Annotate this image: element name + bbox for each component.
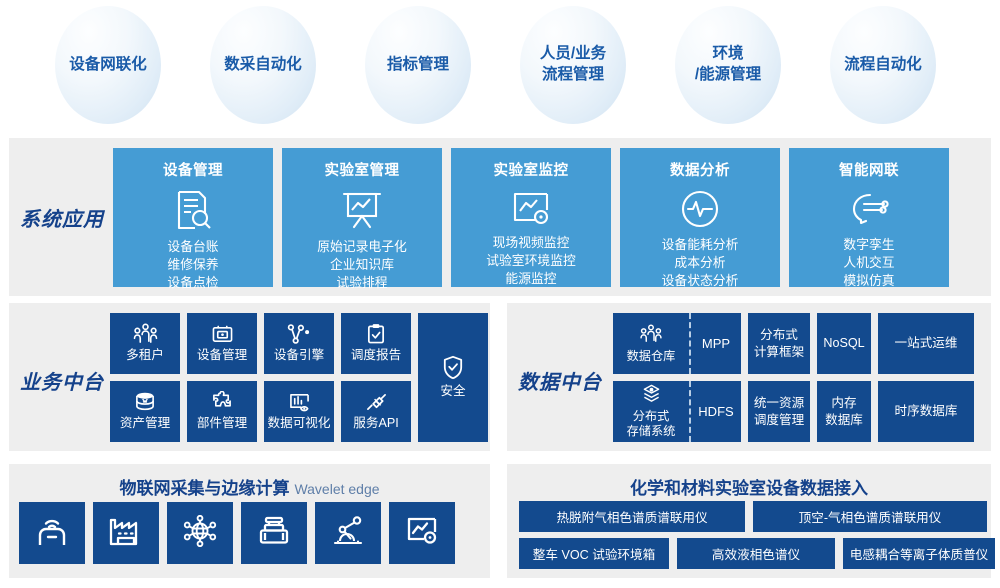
tile-label: 设备管理 [197,347,247,363]
system-application-row-label: 系统应用 [20,203,104,232]
presentation-chart-icon [341,189,383,231]
tile-column: 安全 [418,313,488,442]
app-card-intelligent-network[interactable]: 智能网联 数字孪生 人机交互 模拟仿真 [789,148,949,287]
lab-equipment-item[interactable]: 电感耦合等离子体质普仪 [843,538,995,569]
feature-line: 原始记录电子化 [317,238,407,256]
tile-label: 时序数据库 [895,403,958,419]
tile-column: 数据仓库 MPP 分布式 存储系 [613,313,741,442]
capability-ellipse-row: 设备网联化 数采自动化 指标管理 人员/业务 流程管理 环境 /能源管理 流程自… [0,0,1000,130]
capability-label-line2: /能源管理 [695,66,761,83]
app-card-features: 原始记录电子化 企业知识库 试验排程 [317,238,407,292]
tile-device-engine[interactable]: 设备引擎 [264,313,334,374]
architecture-diagram: 设备网联化 数采自动化 指标管理 人员/业务 流程管理 环境 /能源管理 流程自… [0,0,1000,588]
tile-in-memory-database[interactable]: 内存 数据库 [817,381,871,442]
pulse-circle-icon [680,189,720,229]
document-search-icon [173,189,213,231]
tile-dispatch-report[interactable]: 调度报告 [341,313,411,374]
feature-line: 设备点检 [167,274,218,292]
wifi-gateway-icon [35,515,69,552]
factory-icon [108,516,144,551]
lab-equipment-item[interactable]: 顶空-气相色谱质谱联用仪 [753,501,987,532]
tile-label-line1: 统一资源 [754,395,804,411]
feature-line: 能源监控 [486,270,576,288]
iot-edge-title: 物联网采集与边缘计算 [119,479,289,498]
distributed-storage-icon [641,384,662,407]
app-card-lab-management[interactable]: 实验室管理 原始记录电子化 企业知识库 试验排程 [282,148,442,287]
iot-box-sensor-device[interactable] [241,502,307,564]
sensor-device-icon [257,516,291,551]
feature-line: 企业知识库 [317,256,407,274]
data-platform-tiles: 数据仓库 MPP 分布式 存储系 [613,313,974,442]
feature-line: 维修保养 [167,256,218,274]
puzzle-piece-icon [211,391,233,412]
app-card-title: 实验室监控 [494,159,569,180]
app-card-features: 现场视频监控 试验室环境监控 能源监控 [486,234,576,288]
tile-label-line2: 计算框架 [754,344,804,360]
tile-security[interactable]: 安全 [418,313,488,442]
tile-label: 调度报告 [351,347,401,363]
lab-equipment-item[interactable]: 整车 VOC 试验环境箱 [519,538,669,569]
tile-label-line2: 数据库 [825,412,863,428]
capability-label: 设备网联化 [69,55,147,76]
app-card-title: 设备管理 [163,159,223,180]
app-card-title: 数据分析 [670,159,730,180]
tile-label-line1: 内存 [831,395,856,411]
tile-component-management[interactable]: 部件管理 [187,381,257,442]
tile-label-line1: 分布式 [760,327,798,343]
iot-box-monitor-chart[interactable] [389,502,455,564]
shield-check-icon [442,355,464,380]
iot-box-robot-arm[interactable] [315,502,381,564]
capability-ellipse[interactable]: 流程自动化 [830,6,936,124]
tile-column: 调度报告 服务API [341,313,411,442]
tile-label: 一站式运维 [895,335,958,351]
tile-label: NoSQL [823,335,864,351]
tile-distributed-storage-hdfs[interactable]: 分布式 存储系统 HDFS [613,381,741,442]
feature-line: 设备状态分析 [662,272,739,290]
app-card-data-analysis[interactable]: 数据分析 设备能耗分析 成本分析 设备状态分析 [620,148,780,287]
ai-chip-head-icon [848,189,890,229]
plug-connect-icon [365,392,388,412]
tile-label: 部件管理 [197,415,247,431]
iot-edge-subtitle: Wavelet edge [294,481,379,497]
tile-nosql[interactable]: NoSQL [817,313,871,374]
tile-data-visualization[interactable]: 数据可视化 [264,381,334,442]
capability-label: 流程自动化 [844,55,922,76]
feature-line: 设备台账 [167,238,218,256]
tile-asset-management[interactable]: 资产管理 [110,381,180,442]
capability-ellipse[interactable]: 人员/业务 流程管理 [520,6,626,124]
tile-label: 服务API [353,415,399,431]
tile-one-stop-ops[interactable]: 一站式运维 [878,313,974,374]
tile-device-management[interactable]: 设备管理 [187,313,257,374]
robot-arm-icon [331,516,365,551]
system-application-cards: 设备管理 设备台账 维修保养 设备点检 实验室管理 [113,148,949,287]
app-card-features: 设备能耗分析 成本分析 设备状态分析 [662,236,739,290]
app-card-lab-monitoring[interactable]: 实验室监控 现场视频监控 试验室环境监控 能源监控 [451,148,611,287]
lab-equipment-row: 热脱附气相色谱质谱联用仪 顶空-气相色谱质谱联用仪 [519,501,995,532]
tech-label: MPP [691,313,741,374]
chart-eye-icon [288,392,311,412]
tile-label-line1: 分布式 [633,409,670,423]
tile-data-warehouse-mpp[interactable]: 数据仓库 MPP [613,313,741,374]
capability-label: 人员/业务 流程管理 [540,44,606,86]
iot-edge-title-row: 物联网采集与边缘计算Wavelet edge [9,474,490,499]
business-platform-tiles: 多租户 资产管理 [110,313,488,442]
tile-label: 多租户 [126,347,164,363]
database-coin-icon [133,391,157,412]
tile-column: 多租户 资产管理 [110,313,180,442]
tile-column: 设备引擎 数据可视化 [264,313,334,442]
data-warehouse-users-icon [639,324,663,347]
capability-label: 数采自动化 [224,55,302,76]
tile-service-api[interactable]: 服务API [341,381,411,442]
app-card-features: 设备台账 维修保养 设备点检 [167,238,218,292]
clipboard-check-icon [366,323,386,344]
tile-distributed-compute-framework[interactable]: 分布式 计算框架 [748,313,810,374]
app-card-features: 数字孪生 人机交互 模拟仿真 [843,236,894,290]
tile-label: 分布式 存储系统 [627,409,676,439]
tile-label-line2: 调度管理 [754,412,804,428]
feature-line: 数字孪生 [843,236,894,254]
device-box-icon [211,324,234,344]
monitor-chart-eye-icon [405,516,439,551]
feature-line: 模拟仿真 [843,272,894,290]
tile-column: 设备管理 部件管理 [187,313,257,442]
feature-line: 成本分析 [662,254,739,272]
tile-label: 资产管理 [120,415,170,431]
tile-label: 安全 [440,383,465,399]
lab-equipment-item[interactable]: 高效液相色谱仪 [677,538,835,569]
feature-line: 试验排程 [317,274,407,292]
lab-equipment-item[interactable]: 热脱附气相色谱质谱联用仪 [519,501,745,532]
capability-label-line1: 人员/业务 [540,45,606,62]
capability-label: 指标管理 [387,55,449,76]
business-platform-row-label: 业务中台 [20,366,104,395]
feature-line: 试验室环境监控 [486,252,576,270]
multi-tenant-users-icon [133,323,158,344]
app-card-device-management[interactable]: 设备管理 设备台账 维修保养 设备点检 [113,148,273,287]
tile-timeseries-database[interactable]: 时序数据库 [878,381,974,442]
node-graph-icon [287,324,311,344]
iot-edge-icon-row [19,502,455,564]
capability-ellipse[interactable]: 数采自动化 [210,6,316,124]
tile-label: 数据仓库 [627,349,676,364]
iot-box-factory[interactable] [93,502,159,564]
data-platform-row-label: 数据中台 [518,366,602,395]
tile-unified-resource-scheduling[interactable]: 统一资源 调度管理 [748,381,810,442]
app-card-title: 实验室管理 [325,159,400,180]
distributed-storage-cell[interactable]: 分布式 存储系统 [613,381,691,442]
tile-column: 分布式 计算框架 统一资源 调度管理 [748,313,810,442]
capability-ellipse[interactable]: 设备网联化 [55,6,161,124]
capability-label-line1: 环境 [712,45,743,62]
lab-equipment-row: 整车 VOC 试验环境箱 高效液相色谱仪 电感耦合等离子体质普仪 [519,538,995,569]
tile-label: 设备引擎 [274,347,324,363]
tile-column: 一站式运维 时序数据库 [878,313,974,442]
feature-line: 现场视频监控 [486,234,576,252]
data-warehouse-cell[interactable]: 数据仓库 [613,313,691,374]
monitor-chart-eye-icon [510,189,552,227]
lab-equipment-rows: 热脱附气相色谱质谱联用仪 顶空-气相色谱质谱联用仪 整车 VOC 试验环境箱 高… [519,501,995,569]
feature-line: 设备能耗分析 [662,236,739,254]
feature-line: 人机交互 [843,254,894,272]
tile-column: NoSQL 内存 数据库 [817,313,871,442]
tile-label-line2: 存储系统 [627,424,676,438]
iot-box-wifi-gateway[interactable] [19,502,85,564]
capability-label: 环境 /能源管理 [695,44,761,86]
app-card-title: 智能网联 [839,159,899,180]
iot-network-globe-icon [183,515,217,552]
capability-ellipse[interactable]: 环境 /能源管理 [675,6,781,124]
capability-ellipse[interactable]: 指标管理 [365,6,471,124]
iot-box-iot-network[interactable] [167,502,233,564]
tile-multi-tenant[interactable]: 多租户 [110,313,180,374]
capability-label-line2: 流程管理 [542,66,604,83]
tile-label: 数据可视化 [268,415,331,431]
tech-label: HDFS [691,381,741,442]
lab-equipment-title: 化学和材料实验室设备数据接入 [507,474,991,499]
